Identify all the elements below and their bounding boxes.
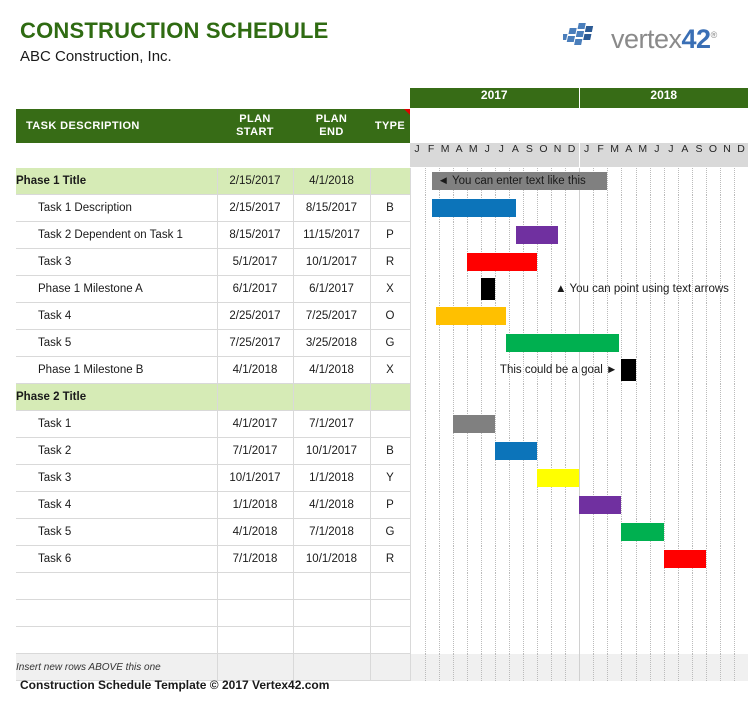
gridline-1 xyxy=(425,276,427,303)
cell-type[interactable] xyxy=(370,384,410,411)
cell-task-description[interactable]: Task 3 xyxy=(16,249,217,276)
table-row[interactable] xyxy=(16,573,748,600)
gantt-row-canvas: ▲ You can point using text arrows xyxy=(411,276,749,303)
cell-plan-start[interactable] xyxy=(217,384,293,411)
gridline-23 xyxy=(734,303,736,330)
gridline-2 xyxy=(439,600,441,627)
cell-plan-start[interactable]: 1/1/2018 xyxy=(217,492,293,519)
gridline-15 xyxy=(621,573,623,600)
gridline-8 xyxy=(523,519,525,546)
gantt-bar[interactable] xyxy=(579,496,621,514)
gantt-bar[interactable] xyxy=(453,415,495,433)
cell-task-description[interactable] xyxy=(16,573,217,600)
cell-plan-end[interactable] xyxy=(293,627,370,654)
month-header-row: JFMAMJJASONDJFMAMJJASOND xyxy=(16,143,748,168)
cell-type[interactable] xyxy=(370,600,410,627)
gridline-23 xyxy=(734,384,736,411)
gridline-9 xyxy=(537,654,539,681)
gridline-1 xyxy=(425,546,427,573)
month-letter-11: D xyxy=(565,143,579,168)
gridline-7 xyxy=(509,573,511,600)
cell-plan-start[interactable] xyxy=(217,573,293,600)
cell-type[interactable]: B xyxy=(370,195,410,222)
cell-type[interactable]: P xyxy=(370,222,410,249)
gridline-7 xyxy=(509,465,511,492)
month-letter-13: F xyxy=(594,143,608,168)
gridline-22 xyxy=(720,573,722,600)
gridline-19 xyxy=(678,249,680,276)
cell-gantt[interactable] xyxy=(410,384,748,411)
gridline-19 xyxy=(678,438,680,465)
gantt-gridlines xyxy=(411,438,749,465)
year-label-2018: 2018 xyxy=(580,88,749,109)
cell-plan-end[interactable] xyxy=(293,384,370,411)
gridline-6 xyxy=(495,357,497,384)
table-row[interactable]: Task 67/1/201810/1/2018R xyxy=(16,546,748,573)
gridline-4 xyxy=(467,627,469,654)
gridline-10 xyxy=(551,195,553,222)
gridline-14 xyxy=(607,195,609,222)
table-row[interactable]: Task 1 Description2/15/20178/15/2017B xyxy=(16,195,748,222)
gridline-17 xyxy=(650,330,652,357)
cell-type[interactable]: R xyxy=(370,249,410,276)
gridline-6 xyxy=(495,600,497,627)
cell-plan-end[interactable]: 3/25/2018 xyxy=(293,330,370,357)
cell-type[interactable]: X xyxy=(370,357,410,384)
cell-plan-end[interactable]: 1/1/2018 xyxy=(293,465,370,492)
gridline-20 xyxy=(692,411,694,438)
gridline-6 xyxy=(495,411,497,438)
gridline-16 xyxy=(636,357,638,384)
cell-gantt[interactable] xyxy=(410,627,748,654)
cell-plan-end[interactable]: 10/1/2017 xyxy=(293,249,370,276)
col-header-plan-end: PLAN END xyxy=(293,109,370,143)
gridline-11 xyxy=(565,249,567,276)
gridline-17 xyxy=(650,492,652,519)
gridline-1 xyxy=(425,330,427,357)
table-row[interactable]: Phase 1 Milestone B4/1/20184/1/2018XThis… xyxy=(16,357,748,384)
gridline-9 xyxy=(537,384,539,411)
gridline-14 xyxy=(607,627,609,654)
gridline-8 xyxy=(523,654,525,681)
cell-plan-start[interactable]: 4/1/2018 xyxy=(217,519,293,546)
gridline-4 xyxy=(467,384,469,411)
cell-task-description[interactable]: Task 5 xyxy=(16,330,217,357)
cell-type[interactable]: O xyxy=(370,303,410,330)
month-letter-7: A xyxy=(508,143,522,168)
cell-plan-start[interactable]: 7/1/2017 xyxy=(217,438,293,465)
gridline-12 xyxy=(579,519,581,546)
table-row[interactable]: Task 27/1/201710/1/2017B xyxy=(16,438,748,465)
table-row[interactable]: Task 310/1/20171/1/2018Y xyxy=(16,465,748,492)
gridline-13 xyxy=(593,600,595,627)
gridline-12 xyxy=(579,654,581,681)
cell-gantt[interactable] xyxy=(410,519,748,546)
gridline-3 xyxy=(453,276,455,303)
gridline-12 xyxy=(579,303,581,330)
cell-plan-start[interactable]: 4/1/2017 xyxy=(217,411,293,438)
cell-task-description[interactable]: Task 3 xyxy=(16,465,217,492)
gridline-18 xyxy=(664,303,666,330)
table-row[interactable]: Task 54/1/20187/1/2018G xyxy=(16,519,748,546)
gridline-1 xyxy=(425,222,427,249)
gridline-2 xyxy=(439,276,441,303)
cell-plan-start[interactable]: 2/25/2017 xyxy=(217,303,293,330)
gantt-bar[interactable] xyxy=(537,469,579,487)
gridline-6 xyxy=(495,384,497,411)
cell-plan-end[interactable]: 11/15/2017 xyxy=(293,222,370,249)
gantt-bar[interactable] xyxy=(506,334,619,352)
gridline-2 xyxy=(439,438,441,465)
cell-plan-start[interactable]: 5/1/2017 xyxy=(217,249,293,276)
cell-plan-end[interactable]: 7/25/2017 xyxy=(293,303,370,330)
cell-task-description[interactable]: Task 1 Description xyxy=(16,195,217,222)
gridline-22 xyxy=(720,195,722,222)
gridline-20 xyxy=(692,492,694,519)
gantt-gridlines xyxy=(411,573,749,600)
gantt-bar-label: ▲ You can point using text arrows xyxy=(551,276,729,302)
gridline-13 xyxy=(593,411,595,438)
gantt-bar[interactable] xyxy=(495,442,537,460)
cell-gantt[interactable]: ▲ You can point using text arrows xyxy=(410,276,748,303)
gridline-2 xyxy=(439,249,441,276)
gridline-20 xyxy=(692,519,694,546)
gridline-11 xyxy=(565,546,567,573)
gridline-20 xyxy=(692,465,694,492)
gantt-row-canvas xyxy=(411,465,749,492)
gantt-gridlines xyxy=(411,249,749,276)
gridline-6 xyxy=(495,627,497,654)
gridline-5 xyxy=(481,600,483,627)
cell-plan-end[interactable] xyxy=(293,573,370,600)
cell-plan-end[interactable] xyxy=(293,654,370,681)
gridline-15 xyxy=(621,249,623,276)
month-letter-5: J xyxy=(480,143,494,168)
cell-plan-start[interactable] xyxy=(217,600,293,627)
gridline-20 xyxy=(692,330,694,357)
gridline-10 xyxy=(551,411,553,438)
cell-plan-end[interactable]: 10/1/2018 xyxy=(293,546,370,573)
gridline-11 xyxy=(565,303,567,330)
gridline-10 xyxy=(551,573,553,600)
cell-type[interactable]: G xyxy=(370,519,410,546)
gridline-3 xyxy=(453,384,455,411)
gridline-22 xyxy=(720,546,722,573)
cell-gantt[interactable] xyxy=(410,654,748,681)
gantt-bar[interactable] xyxy=(436,307,506,325)
cell-plan-start[interactable]: 10/1/2017 xyxy=(217,465,293,492)
table-row[interactable] xyxy=(16,627,748,654)
gridline-13 xyxy=(593,249,595,276)
cell-gantt[interactable] xyxy=(410,546,748,573)
gridline-21 xyxy=(706,330,708,357)
month-letter-21: O xyxy=(706,143,720,168)
gridline-1 xyxy=(425,195,427,222)
gantt-row-canvas xyxy=(411,573,749,600)
cell-type[interactable] xyxy=(370,627,410,654)
gridline-14 xyxy=(607,249,609,276)
cell-plan-end[interactable]: 4/1/2018 xyxy=(293,357,370,384)
cell-task-description[interactable]: Task 4 xyxy=(16,303,217,330)
gridline-10 xyxy=(551,438,553,465)
gridline-6 xyxy=(495,330,497,357)
gridline-20 xyxy=(692,654,694,681)
gridline-8 xyxy=(523,276,525,303)
cell-plan-end[interactable]: 4/1/2018 xyxy=(293,492,370,519)
table-row[interactable]: Task 42/25/20177/25/2017O xyxy=(16,303,748,330)
gridline-12 xyxy=(579,411,581,438)
cell-plan-end[interactable]: 4/1/2018 xyxy=(293,168,370,195)
timeline-header-spacer xyxy=(410,109,748,143)
cell-gantt[interactable] xyxy=(410,195,748,222)
phase-row[interactable]: Phase 1 Title2/15/20174/1/2018◄ You can … xyxy=(16,168,748,195)
gridline-1 xyxy=(425,600,427,627)
table-row[interactable]: Task 2 Dependent on Task 18/15/201711/15… xyxy=(16,222,748,249)
gantt-bar[interactable] xyxy=(664,550,706,568)
gridline-21 xyxy=(706,627,708,654)
gridline-4 xyxy=(467,546,469,573)
phase-row[interactable]: Phase 2 Title xyxy=(16,384,748,411)
gridline-18 xyxy=(664,411,666,438)
gridline-8 xyxy=(523,195,525,222)
cell-plan-start[interactable] xyxy=(217,654,293,681)
vertex42-logo[interactable]: vertex42® xyxy=(563,18,743,58)
gantt-bar[interactable] xyxy=(621,523,663,541)
cell-plan-start[interactable]: 8/15/2017 xyxy=(217,222,293,249)
logo-word: vertex xyxy=(611,24,682,54)
gridline-19 xyxy=(678,411,680,438)
gridline-7 xyxy=(509,222,511,249)
gridline-3 xyxy=(453,546,455,573)
cell-plan-end[interactable]: 10/1/2017 xyxy=(293,438,370,465)
gantt-row-canvas: ◄ You can enter text like this xyxy=(411,168,749,195)
cell-plan-start[interactable]: 2/15/2017 xyxy=(217,168,293,195)
gridline-23 xyxy=(734,627,736,654)
gridline-22 xyxy=(720,330,722,357)
gridline-5 xyxy=(481,357,483,384)
gridline-13 xyxy=(593,384,595,411)
gridline-13 xyxy=(593,654,595,681)
cell-gantt[interactable] xyxy=(410,303,748,330)
cell-plan-start[interactable]: 2/15/2017 xyxy=(217,195,293,222)
gridline-18 xyxy=(664,168,666,195)
gridline-9 xyxy=(537,573,539,600)
gridline-18 xyxy=(664,573,666,600)
gridline-14 xyxy=(607,546,609,573)
gridline-20 xyxy=(692,438,694,465)
gridline-1 xyxy=(425,654,427,681)
gridline-12 xyxy=(579,465,581,492)
cell-type[interactable] xyxy=(370,168,410,195)
cell-type[interactable] xyxy=(370,573,410,600)
cell-plan-start[interactable]: 7/25/2017 xyxy=(217,330,293,357)
cell-type[interactable]: Y xyxy=(370,465,410,492)
cell-gantt[interactable] xyxy=(410,411,748,438)
gridline-19 xyxy=(678,519,680,546)
gridline-8 xyxy=(523,600,525,627)
cell-task-description[interactable] xyxy=(16,627,217,654)
cell-plan-start[interactable]: 6/1/2017 xyxy=(217,276,293,303)
cell-type[interactable]: R xyxy=(370,546,410,573)
gridline-19 xyxy=(678,465,680,492)
gridline-2 xyxy=(439,465,441,492)
month-letter-2: M xyxy=(438,143,452,168)
vertex42-logo-text: vertex42® xyxy=(611,20,717,54)
cell-plan-end[interactable]: 8/15/2017 xyxy=(293,195,370,222)
gantt-milestone-marker[interactable] xyxy=(481,278,495,300)
gantt-milestone-marker[interactable] xyxy=(621,359,635,381)
gantt-row-canvas xyxy=(411,600,749,627)
cell-gantt[interactable] xyxy=(410,573,748,600)
cell-task-description[interactable]: Task 2 xyxy=(16,438,217,465)
cell-gantt[interactable] xyxy=(410,600,748,627)
year-band-row: 2017 2018 xyxy=(16,88,748,109)
cell-plan-end[interactable]: 6/1/2017 xyxy=(293,276,370,303)
gridline-16 xyxy=(636,465,638,492)
cell-plan-end[interactable]: 7/1/2017 xyxy=(293,411,370,438)
cell-type[interactable]: B xyxy=(370,438,410,465)
cell-task-description[interactable]: Task 6 xyxy=(16,546,217,573)
month-letter-9: O xyxy=(536,143,550,168)
gridline-20 xyxy=(692,222,694,249)
gridline-15 xyxy=(621,411,623,438)
gridline-11 xyxy=(565,222,567,249)
gridline-11 xyxy=(565,411,567,438)
month-letter-12: J xyxy=(579,143,594,168)
cell-gantt[interactable] xyxy=(410,330,748,357)
gridline-6 xyxy=(495,546,497,573)
gridline-19 xyxy=(678,357,680,384)
gridline-15 xyxy=(621,438,623,465)
gridline-21 xyxy=(706,654,708,681)
table-head: 2017 2018 TASK DESCRIPTION PLAN START PL… xyxy=(16,88,748,168)
cell-type[interactable]: X xyxy=(370,276,410,303)
gridline-22 xyxy=(720,303,722,330)
gridline-7 xyxy=(509,627,511,654)
gridline-15 xyxy=(621,303,623,330)
month-header-spacer xyxy=(16,143,410,168)
gridline-2 xyxy=(439,357,441,384)
cell-plan-start[interactable]: 4/1/2018 xyxy=(217,357,293,384)
gridline-10 xyxy=(551,384,553,411)
gridline-16 xyxy=(636,330,638,357)
gridline-6 xyxy=(495,654,497,681)
gridline-17 xyxy=(650,195,652,222)
cell-plan-end[interactable]: 7/1/2018 xyxy=(293,519,370,546)
cell-gantt[interactable] xyxy=(410,492,748,519)
cell-task-description[interactable]: Task 5 xyxy=(16,519,217,546)
gridline-5 xyxy=(481,465,483,492)
table-row[interactable]: Task 14/1/20177/1/2017 xyxy=(16,411,748,438)
schedule-table: 2017 2018 TASK DESCRIPTION PLAN START PL… xyxy=(16,88,748,681)
cell-task-description[interactable]: Task 1 xyxy=(16,411,217,438)
gridline-8 xyxy=(523,627,525,654)
gridline-4 xyxy=(467,330,469,357)
cell-gantt[interactable]: ◄ You can enter text like this xyxy=(410,168,748,195)
gridline-22 xyxy=(720,222,722,249)
cell-plan-end[interactable] xyxy=(293,600,370,627)
cell-task-description[interactable] xyxy=(16,600,217,627)
table-row[interactable]: Phase 1 Milestone A6/1/20176/1/2017X▲ Yo… xyxy=(16,276,748,303)
table-row[interactable]: Task 57/25/20173/25/2018G xyxy=(16,330,748,357)
cell-gantt[interactable] xyxy=(410,249,748,276)
cell-plan-start[interactable]: 7/1/2018 xyxy=(217,546,293,573)
gridline-19 xyxy=(678,573,680,600)
cell-gantt[interactable] xyxy=(410,222,748,249)
insert-hint-row[interactable]: Insert new rows ABOVE this one xyxy=(16,654,748,681)
table-row[interactable]: Task 35/1/201710/1/2017R xyxy=(16,249,748,276)
cell-task-description[interactable]: Phase 1 Milestone B xyxy=(16,357,217,384)
cell-type[interactable]: P xyxy=(370,492,410,519)
gridline-17 xyxy=(650,411,652,438)
gridline-4 xyxy=(467,438,469,465)
gridline-21 xyxy=(706,222,708,249)
cell-type[interactable]: G xyxy=(370,330,410,357)
table-row[interactable]: Task 41/1/20184/1/2018P xyxy=(16,492,748,519)
table-row[interactable] xyxy=(16,600,748,627)
gridline-3 xyxy=(453,465,455,492)
gridline-16 xyxy=(636,411,638,438)
gridline-16 xyxy=(636,492,638,519)
gridline-22 xyxy=(720,249,722,276)
cell-task-description[interactable]: Phase 2 Title xyxy=(16,384,217,411)
gridline-23 xyxy=(734,222,736,249)
cell-gantt[interactable] xyxy=(410,465,748,492)
gridline-7 xyxy=(509,519,511,546)
gridline-21 xyxy=(706,438,708,465)
gridline-11 xyxy=(565,627,567,654)
gridline-14 xyxy=(607,465,609,492)
gridline-9 xyxy=(537,627,539,654)
cell-type[interactable] xyxy=(370,411,410,438)
gridline-7 xyxy=(509,411,511,438)
gridline-17 xyxy=(650,627,652,654)
gantt-bar[interactable] xyxy=(516,226,558,244)
cell-gantt[interactable]: This could be a goal ► xyxy=(410,357,748,384)
col-header-plan-start-line1: PLAN xyxy=(217,113,293,126)
gridline-18 xyxy=(664,465,666,492)
cell-task-description[interactable]: Task 4 xyxy=(16,492,217,519)
gridline-11 xyxy=(565,600,567,627)
cell-task-description[interactable]: Phase 1 Title xyxy=(16,168,217,195)
gridline-6 xyxy=(495,573,497,600)
gridline-12 xyxy=(579,222,581,249)
cell-task-description[interactable]: Task 2 Dependent on Task 1 xyxy=(16,222,217,249)
gridline-3 xyxy=(453,438,455,465)
gridline-16 xyxy=(636,384,638,411)
gridline-12 xyxy=(579,600,581,627)
cell-gantt[interactable] xyxy=(410,438,748,465)
gridline-18 xyxy=(664,384,666,411)
gridline-22 xyxy=(720,411,722,438)
gridline-23 xyxy=(734,357,736,384)
gridline-15 xyxy=(621,222,623,249)
gridline-15 xyxy=(621,492,623,519)
gridline-21 xyxy=(706,600,708,627)
gridline-5 xyxy=(481,573,483,600)
gridline-3 xyxy=(453,330,455,357)
cell-plan-start[interactable] xyxy=(217,627,293,654)
gridline-22 xyxy=(720,384,722,411)
gridline-9 xyxy=(537,303,539,330)
cell-type[interactable] xyxy=(370,654,410,681)
gantt-bar[interactable] xyxy=(467,253,537,271)
cell-task-description[interactable]: Phase 1 Milestone A xyxy=(16,276,217,303)
cell-task-description[interactable]: Insert new rows ABOVE this one xyxy=(16,654,217,681)
gridline-16 xyxy=(636,438,638,465)
gantt-bar[interactable] xyxy=(432,199,516,217)
gridline-16 xyxy=(636,546,638,573)
